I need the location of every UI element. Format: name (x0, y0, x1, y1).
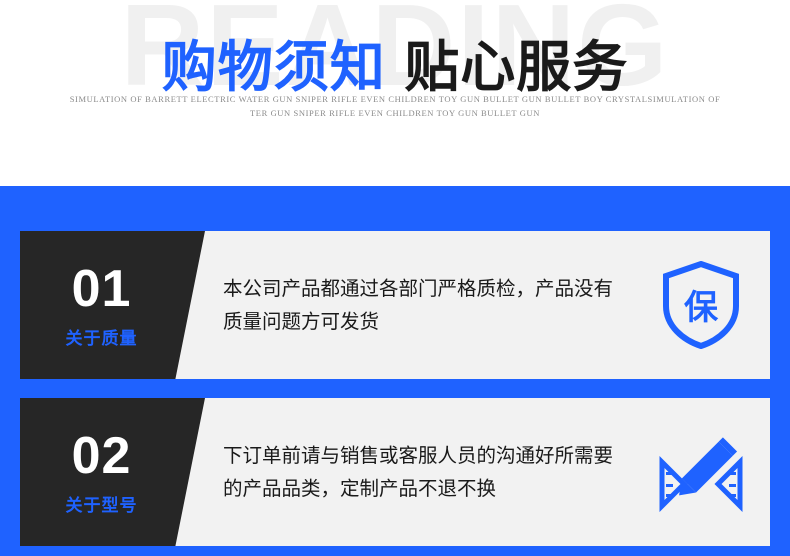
page-root: READING 购物须知 贴心服务 SIMULATION OF BARRETT … (0, 0, 790, 556)
page-title-black: 贴心服务 (404, 35, 628, 99)
card-01-text: 本公司产品都通过各部门严格质检，产品没有 质量问题方可发货 (223, 272, 613, 338)
shield-guarantee-icon-svg: 保 (661, 261, 741, 349)
header-section: READING 购物须知 贴心服务 SIMULATION OF BARRETT … (0, 0, 790, 186)
shield-guarantee-icon: 保 (658, 260, 744, 350)
card-02-text: 下订单前请与销售或客服人员的沟通好所需要 的产品品类，定制产品不退不换 (223, 439, 613, 505)
pencil-ruler-icon-svg (658, 432, 744, 512)
card-01-label: 关于质量 (66, 324, 138, 349)
subtitle-line-1: SIMULATION OF BARRETT ELECTRIC WATER GUN… (0, 92, 790, 106)
card-02-text-line-1: 下订单前请与销售或客服人员的沟通好所需要 (223, 439, 613, 472)
card-02-number: 02 (72, 429, 132, 483)
card-02-label: 关于型号 (66, 491, 138, 516)
card-01-text-line-1: 本公司产品都通过各部门严格质检，产品没有 (223, 272, 613, 305)
card-02-text-line-2: 的产品品类，定制产品不退不换 (223, 472, 613, 505)
info-card-01: 01 关于质量 本公司产品都通过各部门严格质检，产品没有 质量问题方可发货 保 (20, 231, 770, 379)
card-02-body: 下订单前请与销售或客服人员的沟通好所需要 的产品品类，定制产品不退不换 (205, 398, 770, 546)
card-01-number-block: 01 关于质量 (20, 231, 205, 379)
shield-icon-glyph: 保 (684, 288, 719, 328)
page-title-blue: 购物须知 (162, 35, 386, 99)
card-01-body: 本公司产品都通过各部门严格质检，产品没有 质量问题方可发货 保 (205, 231, 770, 379)
blue-panel: 01 关于质量 本公司产品都通过各部门严格质检，产品没有 质量问题方可发货 保 (0, 186, 790, 556)
pencil-ruler-icon (658, 427, 744, 517)
card-01-text-line-2: 质量问题方可发货 (223, 305, 613, 338)
subtitle-text: SIMULATION OF BARRETT ELECTRIC WATER GUN… (0, 92, 790, 120)
page-title: 购物须知 贴心服务 (0, 22, 790, 102)
subtitle-line-2: TER GUN SNIPER RIFLE EVEN CHILDREN TOY G… (0, 106, 790, 120)
card-01-number: 01 (72, 262, 132, 316)
info-card-02: 02 关于型号 下订单前请与销售或客服人员的沟通好所需要 的产品品类，定制产品不… (20, 398, 770, 546)
card-02-number-block: 02 关于型号 (20, 398, 205, 546)
